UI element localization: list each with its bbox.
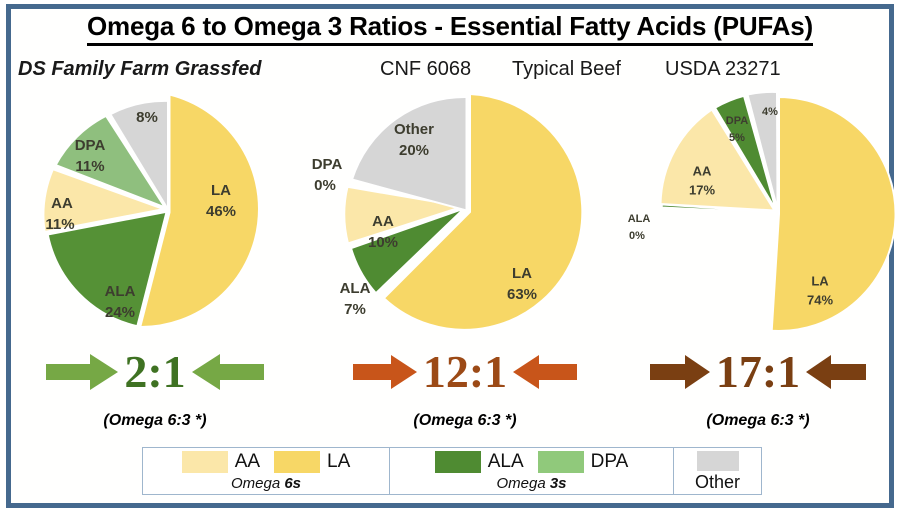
- legend-item-la[interactable]: LA: [274, 451, 350, 473]
- legend-subtitle-omega3-bold: 3s: [550, 475, 567, 492]
- legend-subtitle-omega6-bold: 6s: [284, 475, 301, 492]
- pie-label-other-pct: 4%: [762, 106, 778, 118]
- pie-label-ala-name: ALA: [340, 280, 371, 297]
- arrow-left-icon: [190, 352, 264, 392]
- legend-subtitle-omega3-prefix: Omega: [496, 475, 549, 492]
- legend-swatch-other: [697, 451, 739, 471]
- pie-label-other-name: Other: [394, 121, 434, 138]
- pie-label-ala-pct: 24%: [105, 304, 135, 321]
- omega-note-usda: (Omega 6:3 *): [628, 412, 888, 430]
- page-title: Omega 6 to Omega 3 Ratios - Essential Fa…: [0, 11, 900, 42]
- arrow-right-icon: [650, 353, 712, 391]
- pie-label-aa-name: AA: [693, 163, 712, 178]
- pie-label-ala-pct: 0%: [629, 230, 645, 242]
- pie-label-other-pct: 20%: [399, 142, 429, 159]
- pie-label-la-pct: 46%: [206, 203, 236, 220]
- pie-label-dpa-pct: 0%: [314, 177, 336, 194]
- ratio-value-cnf: 12:1: [423, 349, 507, 395]
- pie-label-dpa-pct: 11%: [75, 158, 104, 175]
- omega-note-cnf: (Omega 6:3 *): [320, 412, 610, 430]
- legend-subtitle-omega6: Omega 6s: [143, 474, 389, 494]
- pie-label-la-name: LA: [211, 182, 231, 199]
- pie-label-aa-pct: 11%: [45, 216, 74, 233]
- legend-swatch-ala: [435, 451, 481, 473]
- legend-label-la: LA: [327, 451, 350, 473]
- pie-label-aa-name: AA: [51, 195, 73, 212]
- legend-group-omega6: AA LA Omega 6s: [142, 447, 390, 495]
- pie-slice-la: [772, 97, 896, 331]
- legend-label-dpa: DPA: [591, 451, 629, 473]
- pie-label-la-name: LA: [811, 273, 829, 288]
- legend-swatch-la: [274, 451, 320, 473]
- pie-label-dpa-pct: 5%: [729, 132, 745, 144]
- ratio-value-grassfed: 2:1: [124, 349, 185, 395]
- ratio-row-usda: 17:1: [628, 344, 888, 400]
- legend-subtitle-omega6-prefix: Omega: [231, 475, 284, 492]
- pie-label-dpa-name: DPA: [75, 137, 106, 154]
- pie-label-la-pct: 74%: [807, 292, 833, 307]
- legend-swatch-aa: [182, 451, 228, 473]
- pie-label-la-pct: 63%: [507, 286, 537, 303]
- pie-label-aa-name: AA: [372, 213, 394, 230]
- pie-chart-usda: LA 74% ALA 0% AA 17% DPA 5% 4%: [646, 86, 881, 342]
- page-title-text: Omega 6 to Omega 3 Ratios - Essential Fa…: [87, 11, 813, 46]
- legend-label-aa: AA: [235, 451, 260, 473]
- pie-label-dpa-name: DPA: [726, 115, 748, 127]
- pie-label-ala-name: ALA: [105, 283, 136, 300]
- legend-label-other: Other: [695, 472, 740, 492]
- arrow-left-icon: [804, 353, 866, 391]
- pie-label-ala-pct: 7%: [344, 301, 366, 318]
- legend-subtitle-omega3: Omega 3s: [390, 474, 673, 494]
- pie-label-la-name: LA: [512, 265, 532, 282]
- pie-label-ala-name: ALA: [628, 213, 651, 225]
- pie-label-other-pct: 8%: [136, 109, 158, 126]
- legend-item-dpa[interactable]: DPA: [538, 451, 629, 473]
- legend-label-ala: ALA: [488, 451, 524, 473]
- column-header-grassfed: DS Family Farm Grassfed: [18, 58, 261, 81]
- column-header-typical-beef: Typical Beef: [512, 58, 621, 81]
- pie-label-aa-pct: 10%: [368, 234, 398, 251]
- ratio-value-usda: 17:1: [716, 349, 800, 395]
- infographic-root: Omega 6 to Omega 3 Ratios - Essential Fa…: [0, 0, 900, 516]
- legend-item-aa[interactable]: AA: [182, 451, 260, 473]
- legend-group-omega3: ALA DPA Omega 3s: [390, 447, 674, 495]
- column-header-cnf: CNF 6068: [380, 58, 471, 81]
- ratio-row-cnf: 12:1: [320, 344, 610, 400]
- arrow-right-icon: [353, 353, 419, 391]
- arrow-right-icon: [46, 352, 120, 392]
- arrow-left-icon: [511, 353, 577, 391]
- legend: AA LA Omega 6s ALA DPA Omega 3: [142, 447, 762, 495]
- pie-chart-grassfed: LA 46% ALA 24% AA 11% DPA 11% 8%: [22, 86, 282, 342]
- omega-note-grassfed: (Omega 6:3 *): [20, 412, 290, 430]
- legend-item-ala[interactable]: ALA: [435, 451, 524, 473]
- pie-chart-cnf: LA 63% ALA 7% AA 10% DPA 0% Other 20%: [330, 86, 580, 342]
- pie-label-aa-pct: 17%: [689, 182, 715, 197]
- legend-group-other: Other: [674, 447, 762, 495]
- legend-swatch-dpa: [538, 451, 584, 473]
- pie-label-dpa-name: DPA: [312, 156, 343, 173]
- ratio-row-grassfed: 2:1: [20, 344, 290, 400]
- column-header-usda: USDA 23271: [665, 58, 781, 81]
